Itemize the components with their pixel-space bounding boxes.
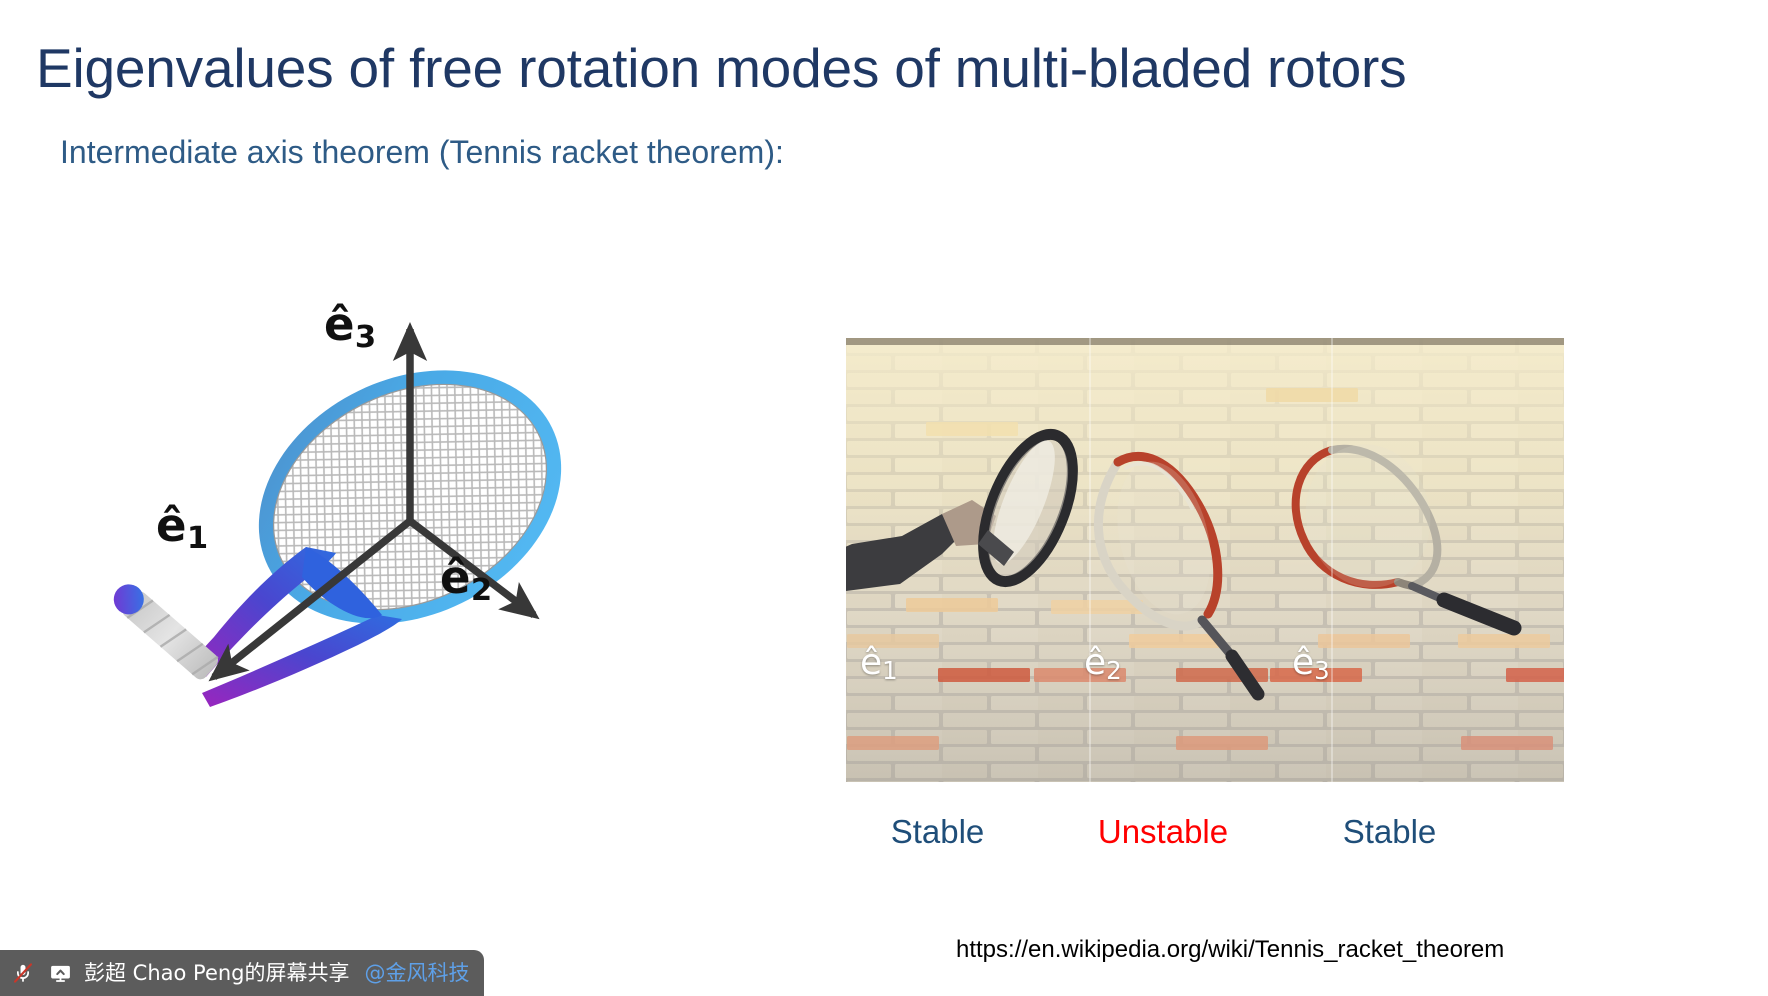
brick-wall-background	[846, 338, 1564, 782]
axis-label-e3: ê3	[324, 302, 376, 347]
stability-caption-e1: Stable	[845, 812, 1030, 852]
photo-axis-label-e2: ê2	[1084, 645, 1122, 681]
axis-label-e2: ê2	[440, 555, 492, 600]
axis-label-e1: ê1	[156, 503, 208, 548]
share-owner-text: 彭超 Chao Peng的屏幕共享	[84, 960, 350, 986]
racket-handle	[110, 578, 221, 682]
page-title: Eigenvalues of free rotation modes of mu…	[36, 33, 1736, 103]
racket-axes-diagram: ê3 ê1 ê2	[110, 285, 640, 715]
tennis-racket-photo: ê1 ê2 ê3	[846, 338, 1564, 782]
stability-caption-e2: Unstable	[1063, 812, 1263, 852]
screen-share-bar[interactable]: 彭超 Chao Peng的屏幕共享 @金风科技	[0, 950, 484, 996]
screen-share-icon[interactable]	[47, 960, 73, 986]
share-org-text: @金风科技	[365, 960, 470, 986]
source-url-text: https://en.wikipedia.org/wiki/Tennis_rac…	[956, 935, 1504, 965]
photo-svg	[846, 338, 1564, 782]
subtitle-text: Intermediate axis theorem (Tennis racket…	[60, 130, 784, 174]
stability-caption-e3: Stable	[1297, 812, 1482, 852]
photo-axis-label-e3: ê3	[1292, 645, 1330, 681]
photo-axis-label-e1: ê1	[860, 645, 898, 681]
microphone-muted-icon[interactable]	[10, 960, 36, 986]
slide-canvas: Eigenvalues of free rotation modes of mu…	[0, 0, 1768, 996]
